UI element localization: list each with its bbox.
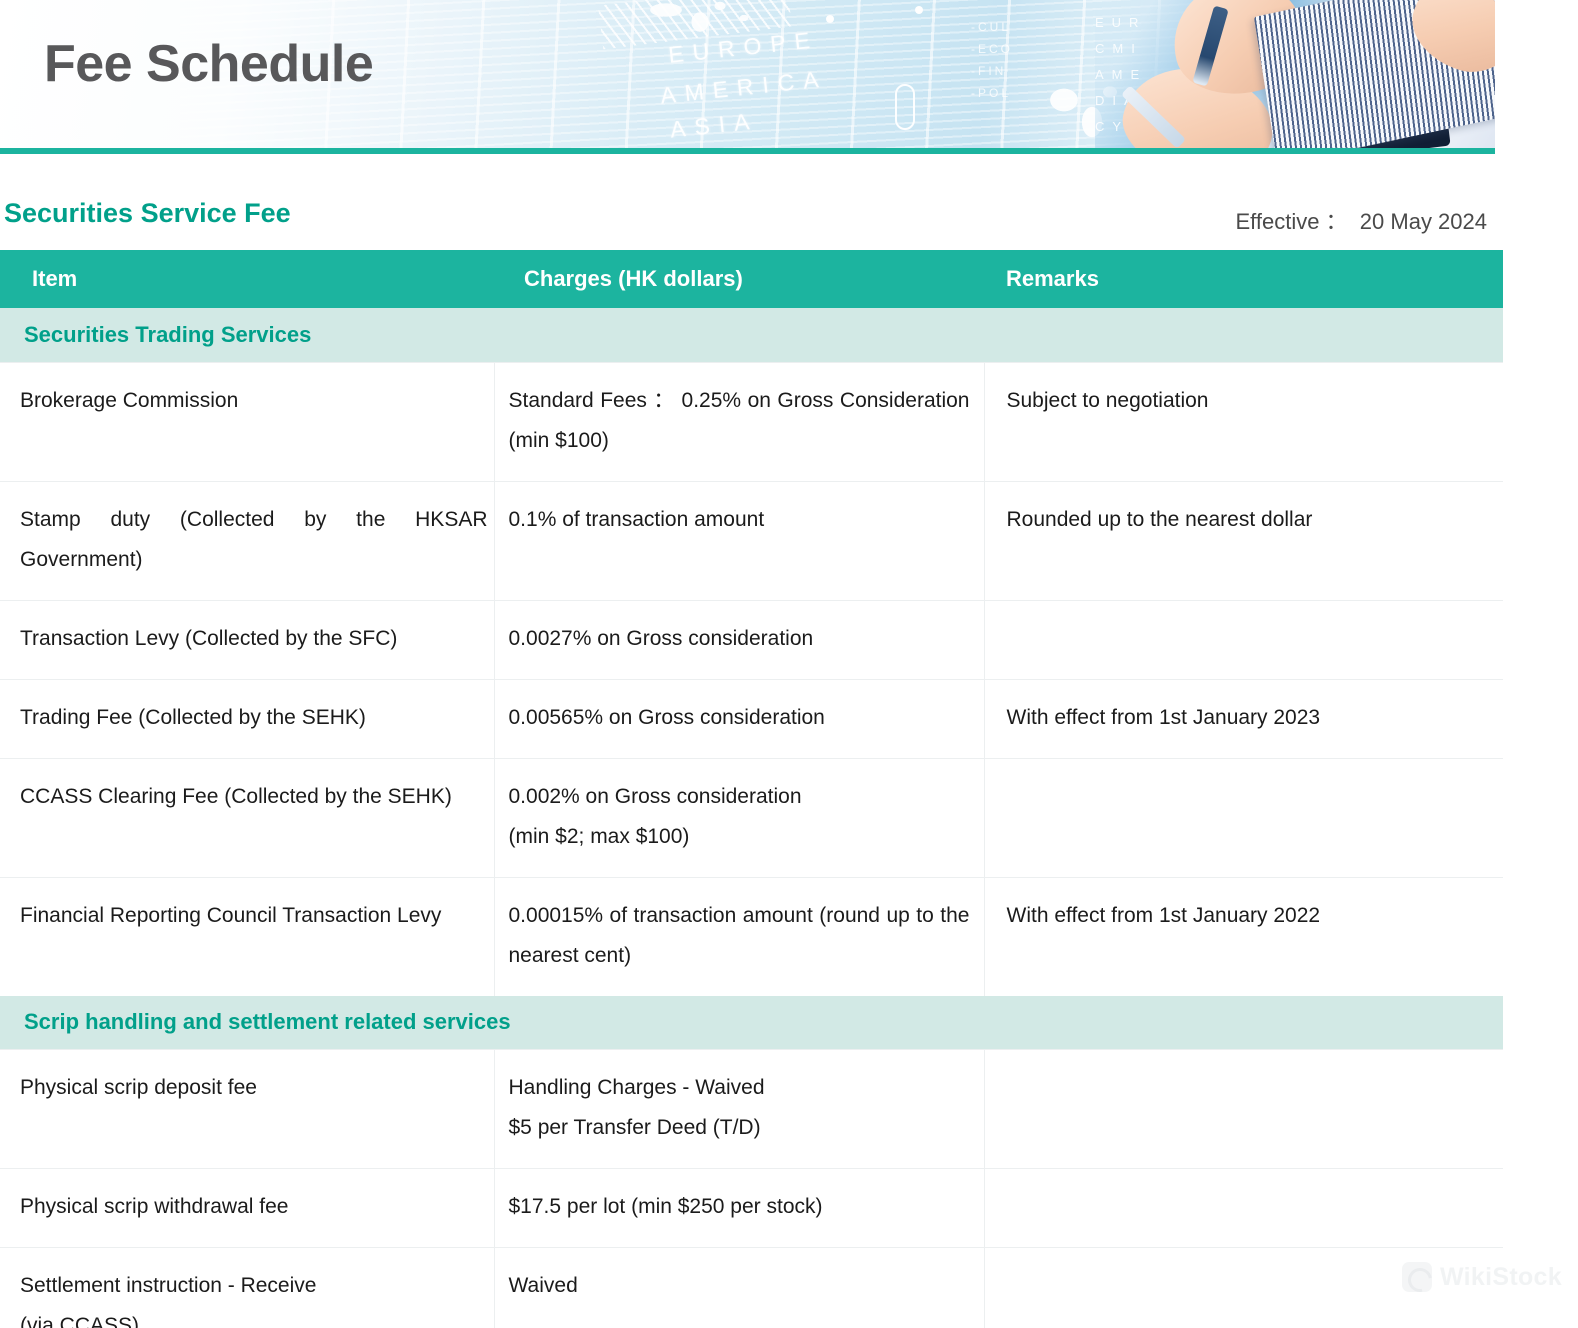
cell-item-text: Stamp duty (Collected by the HKSAR Gover… (20, 500, 488, 580)
table-row: Physical scrip withdrawal fee$17.5 per l… (0, 1169, 1503, 1248)
column-header-charges: Charges (HK dollars) (494, 250, 984, 308)
cell-charges: 0.002% on Gross consideration(min $2; ma… (494, 758, 984, 877)
cell-item-text: Financial Reporting Council Transaction … (20, 896, 488, 936)
cell-item-text: Trading Fee (Collected by the SEHK) (20, 698, 488, 738)
page-title: Fee Schedule (44, 34, 373, 94)
page-banner: EUROPE AMERICA ASIA -CUL-ECO-FIN-POL EUR… (0, 0, 1495, 148)
table-header-row: Item Charges (HK dollars) Remarks (0, 250, 1503, 308)
banner-photo: EURCMIAMEDIACYP (1095, 0, 1495, 148)
cell-item: Brokerage Commission (0, 362, 494, 481)
cell-remarks (984, 1248, 1503, 1328)
effective-label: Effective ： (1235, 209, 1347, 234)
cell-charges-text: 0.0027% on Gross consideration (509, 619, 970, 659)
cell-item: Stamp duty (Collected by the HKSAR Gover… (0, 481, 494, 600)
cell-charges: Standard Fees ： 0.25% on Gross Considera… (494, 362, 984, 481)
table-row: Settlement instruction - Receive(via CCA… (0, 1248, 1503, 1328)
table-section-row: Scrip handling and settlement related se… (0, 996, 1503, 1050)
table-section-label: Scrip handling and settlement related se… (0, 996, 1503, 1050)
network-dot-icon (826, 15, 834, 23)
banner-side-characters: -CUL-ECO-FIN-POL (971, 16, 1091, 104)
cell-charges-text: 0.002% on Gross consideration(min $2; ma… (509, 777, 970, 857)
cell-charges: 0.00565% on Gross consideration (494, 679, 984, 758)
cell-charges-text: Standard Fees ： 0.25% on Gross Considera… (509, 381, 970, 461)
table-row: Trading Fee (Collected by the SEHK)0.005… (0, 679, 1503, 758)
cell-remarks-text: Rounded up to the nearest dollar (1007, 500, 1490, 540)
fee-schedule-table: Item Charges (HK dollars) Remarks Securi… (0, 250, 1503, 1328)
cell-item: Physical scrip withdrawal fee (0, 1169, 494, 1248)
cell-charges: 0.0027% on Gross consideration (494, 600, 984, 679)
table-row: Physical scrip deposit feeHandling Charg… (0, 1050, 1503, 1169)
cell-charges: Handling Charges - Waived$5 per Transfer… (494, 1050, 984, 1169)
table-section-label: Securities Trading Services (0, 308, 1503, 362)
cell-item-text: CCASS Clearing Fee (Collected by the SEH… (20, 777, 488, 817)
section-title-row: Securities Service Fee Effective ： 20 Ma… (0, 154, 1495, 250)
cell-remarks (984, 1050, 1503, 1169)
cell-remarks-text: With effect from 1st January 2023 (1007, 698, 1490, 738)
effective-date-value: 20 May 2024 (1360, 209, 1487, 234)
page-root: EUROPE AMERICA ASIA -CUL-ECO-FIN-POL EUR… (0, 0, 1578, 1328)
table-row: CCASS Clearing Fee (Collected by the SEH… (0, 758, 1503, 877)
cell-remarks: Subject to negotiation (984, 362, 1503, 481)
cell-remarks (984, 758, 1503, 877)
effective-date-block: Effective ： 20 May 2024 (1235, 204, 1487, 236)
cell-remarks-text: Subject to negotiation (1007, 381, 1490, 421)
cell-charges: $17.5 per lot (min $250 per stock) (494, 1169, 984, 1248)
cell-charges-text: 0.00015% of transaction amount (round up… (509, 896, 970, 976)
cell-item: CCASS Clearing Fee (Collected by the SEH… (0, 758, 494, 877)
cell-charges-text: 0.1% of transaction amount (509, 500, 970, 540)
cell-remarks (984, 600, 1503, 679)
column-header-item: Item (0, 250, 494, 308)
table-row: Financial Reporting Council Transaction … (0, 877, 1503, 996)
network-node-icon (895, 84, 915, 130)
cell-remarks-text: With effect from 1st January 2022 (1007, 896, 1490, 936)
cell-charges: Waived (494, 1248, 984, 1328)
cell-charges-text: Handling Charges - Waived$5 per Transfer… (509, 1068, 970, 1148)
table-section-row: Securities Trading Services (0, 308, 1503, 362)
cell-charges: 0.00015% of transaction amount (round up… (494, 877, 984, 996)
effective-date-spacer (1348, 209, 1360, 234)
cell-item-text: Transaction Levy (Collected by the SFC) (20, 619, 488, 659)
section-heading: Securities Service Fee (4, 198, 291, 229)
cell-item: Trading Fee (Collected by the SEHK) (0, 679, 494, 758)
cell-item-text: Physical scrip withdrawal fee (20, 1187, 488, 1227)
table-body: Securities Trading ServicesBrokerage Com… (0, 308, 1503, 1328)
cell-charges-text: $17.5 per lot (min $250 per stock) (509, 1187, 970, 1227)
cell-remarks: With effect from 1st January 2023 (984, 679, 1503, 758)
cell-item-text: Brokerage Commission (20, 381, 488, 421)
cell-item-text: Settlement instruction - Receive(via CCA… (20, 1266, 488, 1328)
network-dot-icon (915, 6, 923, 14)
cell-item: Settlement instruction - Receive(via CCA… (0, 1248, 494, 1328)
cell-item: Transaction Levy (Collected by the SFC) (0, 600, 494, 679)
cell-charges: 0.1% of transaction amount (494, 481, 984, 600)
cell-item: Financial Reporting Council Transaction … (0, 877, 494, 996)
column-header-remarks: Remarks (984, 250, 1503, 308)
table-head: Item Charges (HK dollars) Remarks (0, 250, 1503, 308)
table-row: Transaction Levy (Collected by the SFC)0… (0, 600, 1503, 679)
cell-remarks: With effect from 1st January 2022 (984, 877, 1503, 996)
cell-remarks: Rounded up to the nearest dollar (984, 481, 1503, 600)
cell-remarks (984, 1169, 1503, 1248)
cell-charges-text: Waived (509, 1266, 970, 1306)
table-row: Stamp duty (Collected by the HKSAR Gover… (0, 481, 1503, 600)
table-row: Brokerage CommissionStandard Fees ： 0.25… (0, 362, 1503, 481)
cell-charges-text: 0.00565% on Gross consideration (509, 698, 970, 738)
cell-item: Physical scrip deposit fee (0, 1050, 494, 1169)
cell-item-text: Physical scrip deposit fee (20, 1068, 488, 1108)
